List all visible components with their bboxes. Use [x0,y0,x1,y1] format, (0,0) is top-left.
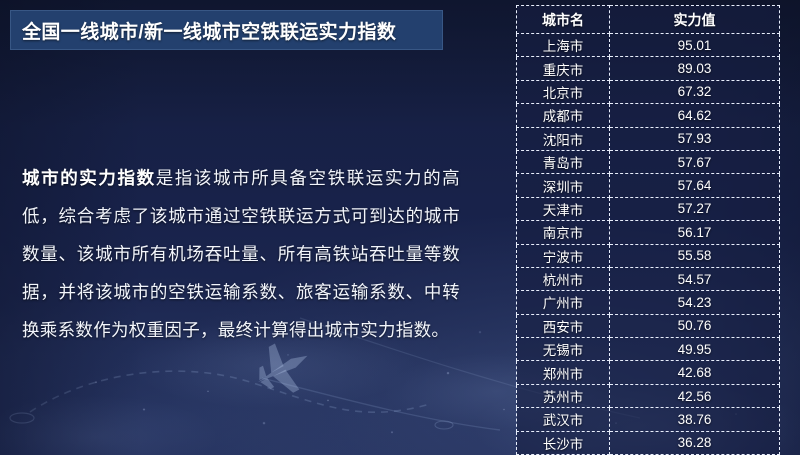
cell-value: 89.03 [610,57,780,80]
page-title: 全国一线城市/新一线城市空铁联运实力指数 [10,17,396,44]
cell-city: 西安市 [517,314,610,337]
cell-value: 57.27 [610,197,780,220]
table-row: 天津市57.27 [517,197,780,220]
cell-value: 42.68 [610,361,780,384]
table-body: 上海市95.01重庆市89.03北京市67.32成都市64.62沈阳市57.93… [517,34,780,455]
cell-city: 郑州市 [517,361,610,384]
cell-city: 青岛市 [517,150,610,173]
cell-value: 57.93 [610,127,780,150]
table-row: 郑州市42.68 [517,361,780,384]
cell-value: 49.95 [610,338,780,361]
table-row: 沈阳市57.93 [517,127,780,150]
column-header-city: 城市名 [517,6,610,34]
cell-value: 57.64 [610,174,780,197]
infographic-slide: 全国一线城市/新一线城市空铁联运实力指数 城市的实力指数是指该城市所具备空铁联运… [0,0,800,455]
table-row: 南京市56.17 [517,221,780,244]
table-row: 深圳市57.64 [517,174,780,197]
cell-city: 成都市 [517,104,610,127]
cell-city: 南京市 [517,221,610,244]
table-row: 杭州市54.57 [517,267,780,290]
cell-city: 广州市 [517,291,610,314]
city-index-table: 城市名 实力值 上海市95.01重庆市89.03北京市67.32成都市64.62… [516,5,780,455]
cell-city: 天津市 [517,197,610,220]
table-row: 青岛市57.67 [517,150,780,173]
table-row: 长沙市36.28 [517,431,780,454]
column-header-value: 实力值 [610,6,780,34]
cell-city: 长沙市 [517,431,610,454]
cell-value: 64.62 [610,104,780,127]
cell-value: 56.17 [610,221,780,244]
table-row: 武汉市38.76 [517,408,780,431]
cell-value: 67.32 [610,80,780,103]
cell-value: 38.76 [610,408,780,431]
cell-city: 宁波市 [517,244,610,267]
title-banner: 全国一线城市/新一线城市空铁联运实力指数 [10,10,443,50]
table-row: 上海市95.01 [517,34,780,57]
cell-city: 杭州市 [517,267,610,290]
cell-city: 北京市 [517,80,610,103]
table-header-row: 城市名 实力值 [517,6,780,34]
table-row: 宁波市55.58 [517,244,780,267]
cell-value: 95.01 [610,34,780,57]
cell-value: 54.57 [610,267,780,290]
table-row: 广州市54.23 [517,291,780,314]
cell-value: 50.76 [610,314,780,337]
cell-value: 55.58 [610,244,780,267]
cell-city: 沈阳市 [517,127,610,150]
description-paragraph: 城市的实力指数是指该城市所具备空铁联运实力的高低，综合考虑了该城市通过空铁联运方… [22,159,460,349]
cell-value: 36.28 [610,431,780,454]
cell-city: 上海市 [517,34,610,57]
cell-value: 54.23 [610,291,780,314]
table-row: 西安市50.76 [517,314,780,337]
table-row: 北京市67.32 [517,80,780,103]
table-row: 重庆市89.03 [517,57,780,80]
description-body: 是指该城市所具备空铁联运实力的高低，综合考虑了该城市通过空铁联运方式可到达的城市… [22,168,460,340]
table-header: 城市名 实力值 [517,6,780,34]
cell-city: 武汉市 [517,408,610,431]
cell-city: 重庆市 [517,57,610,80]
cell-value: 42.56 [610,384,780,407]
cell-city: 苏州市 [517,384,610,407]
table-row: 成都市64.62 [517,104,780,127]
cell-city: 深圳市 [517,174,610,197]
table-row: 无锡市49.95 [517,338,780,361]
description-lead: 城市的实力指数 [22,168,156,188]
table-row: 苏州市42.56 [517,384,780,407]
cell-value: 57.67 [610,150,780,173]
cell-city: 无锡市 [517,338,610,361]
